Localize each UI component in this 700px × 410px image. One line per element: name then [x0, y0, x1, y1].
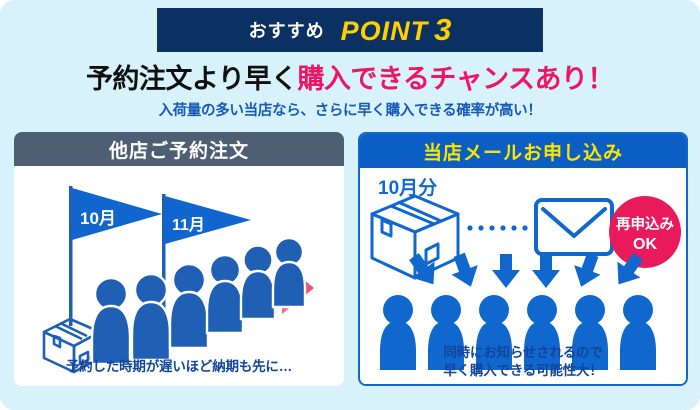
person-figure-icon [273, 238, 305, 307]
person-figure-icon [207, 255, 243, 333]
other-store-illustration: 10月 11月 [14, 166, 344, 386]
headline-part-pink: 購入できるチャンスあり！ [297, 64, 614, 94]
flag-label-october: 10月 [80, 209, 116, 228]
down-arrow-icon [492, 254, 520, 288]
person-figure-icon [92, 278, 130, 364]
down-arrow-group [403, 249, 650, 293]
panel-our-store-caption: 同時にお知らせされるので 早く購入できる可能性大！ [360, 344, 686, 380]
panel-other-store-caption: 予約した時期が遅いほど納期も先に… [14, 358, 344, 376]
panel-our-store-body: 10月分 [360, 168, 686, 386]
panel-our-store-title: 当店メールお申し込み [360, 134, 686, 168]
envelope-icon [536, 200, 612, 254]
panel-our-store-mail: 当店メールお申し込み 10月分 [358, 132, 688, 386]
badge-line1: 再申込み [616, 215, 674, 233]
dotted-connector-icon [467, 225, 527, 230]
person-figure-icon [170, 264, 208, 348]
box-month-label: 10月分 [378, 177, 437, 199]
infographic-root: おすすめ POINT3 予約注文より早く購入できるチャンスあり！ 入荷量の多い当… [0, 0, 700, 410]
panel-other-store-title: 他店ご予約注文 [14, 132, 344, 166]
sub-headline: 入荷量の多い当店なら、さらに早く購入できる確率が高い！ [0, 99, 700, 120]
flag-label-november: 11月 [172, 216, 205, 234]
point-banner: おすすめ POINT3 [157, 8, 543, 52]
down-arrow-icon [568, 250, 606, 292]
headline-part-black: 予約注文より早く [86, 64, 297, 94]
person-figure-icon [132, 274, 170, 360]
banner-point-group: POINT3 [341, 12, 452, 48]
panel-other-store: 他店ご予約注文 10月 [14, 132, 344, 386]
person-figure-icon [241, 246, 275, 320]
down-arrow-icon [446, 250, 484, 292]
banner-point-number: 3 [434, 12, 451, 47]
banner-recommend-label: おすすめ [249, 17, 325, 43]
main-headline: 予約注文より早く購入できるチャンスあり！ [0, 57, 700, 96]
reapply-ok-badge: 再申込み OK [609, 196, 681, 268]
badge-line2: OK [633, 236, 657, 253]
person-figure-group [92, 238, 305, 364]
panel-other-store-body: 10月 11月 [14, 166, 344, 386]
banner-point-word: POINT [341, 16, 429, 46]
down-arrow-icon [532, 254, 560, 288]
